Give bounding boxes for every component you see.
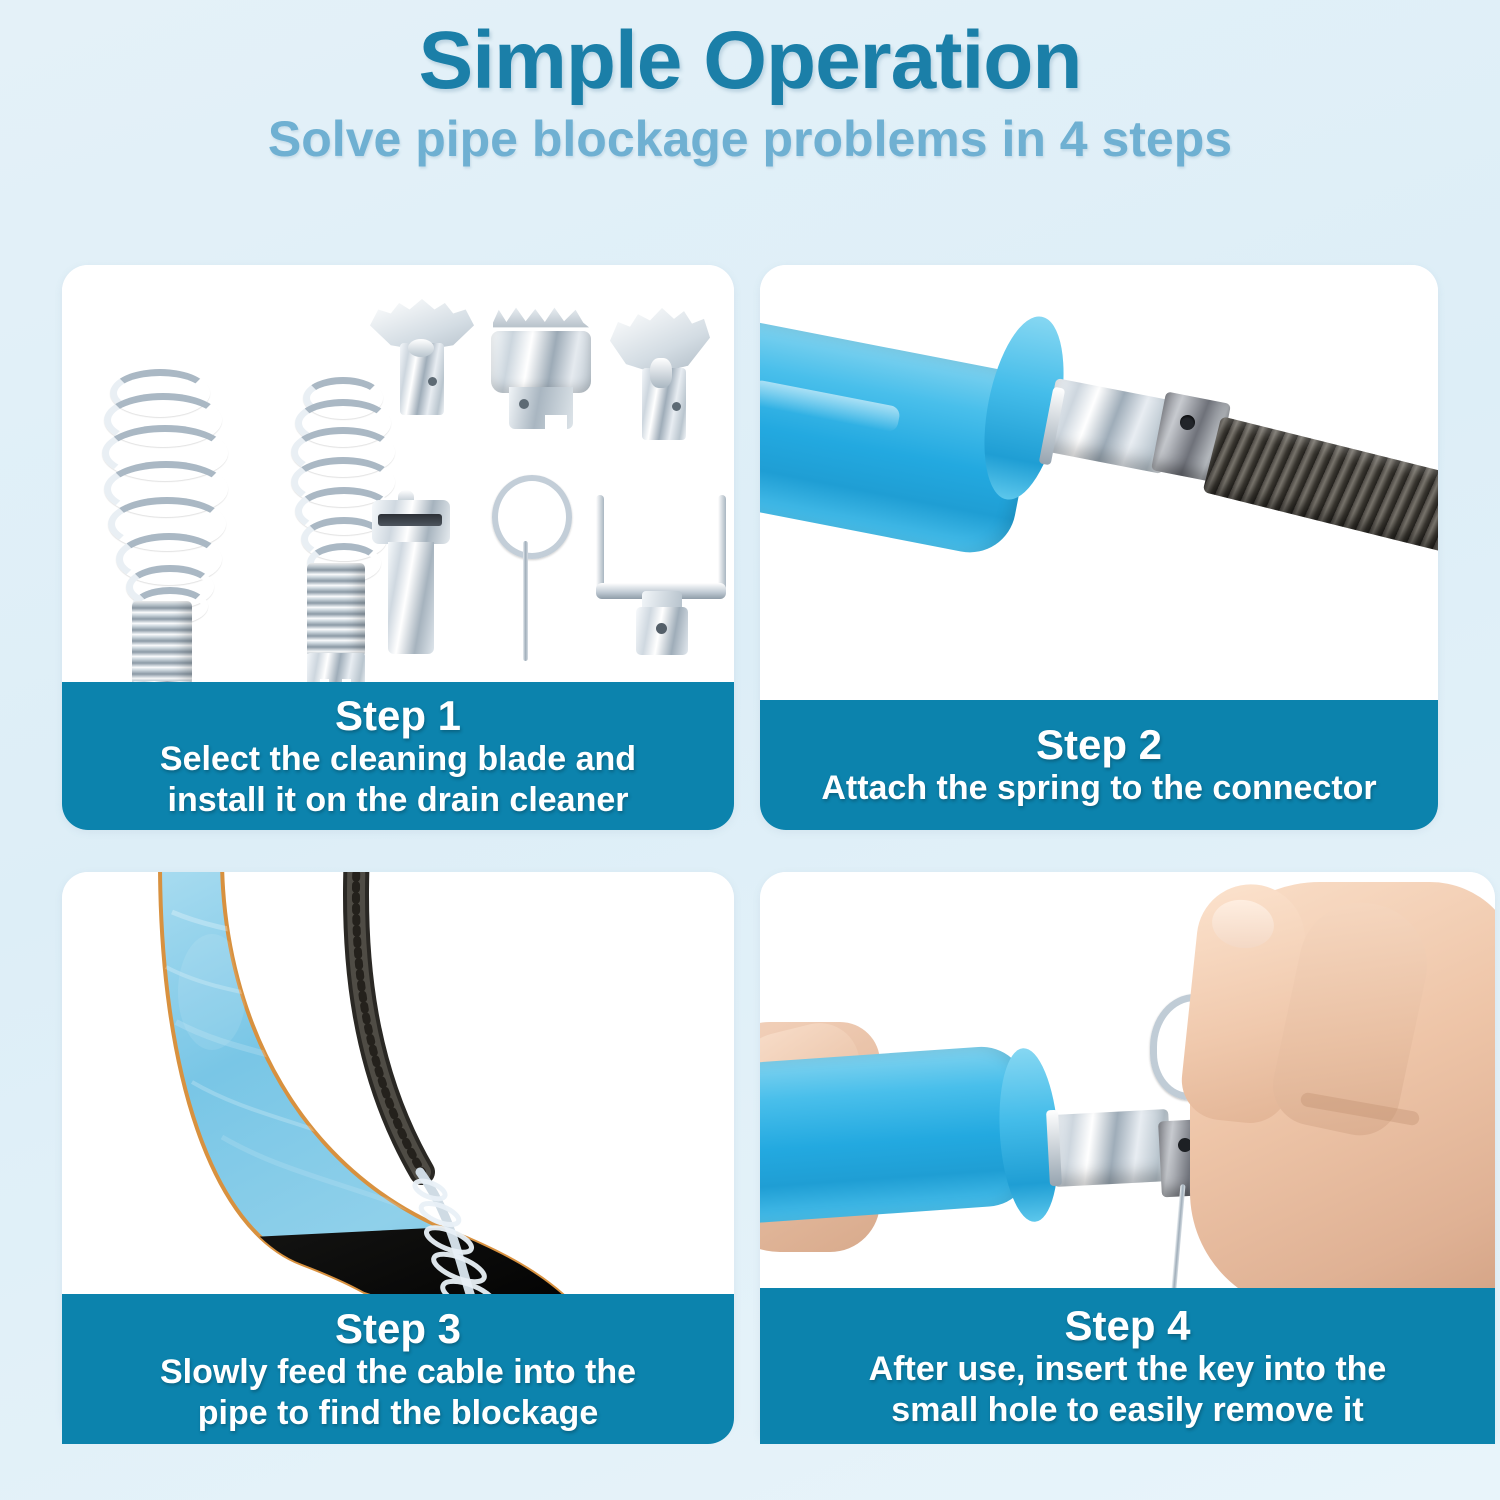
step-4-label: Step 4 [760,1302,1495,1349]
blue-handle-icon [760,1044,1035,1225]
step-1-description-line2: install it on the drain cleaner [62,780,734,821]
step-3-description-line1: Slowly feed the cable into the [62,1352,734,1393]
step-2-banner: Step 2 Attach the spring to the connecto… [760,700,1438,830]
spring-cable-icon [1203,416,1438,555]
slotted-cylinder-head-icon [372,490,450,660]
page-subtitle: Solve pipe blockage problems in 4 steps [0,110,1500,168]
step-4-description-line2: small hole to easily remove it [760,1390,1495,1431]
step-1-banner: Step 1 Select the cleaning blade and ins… [62,682,734,830]
step-3-description-line2: pipe to find the blockage [62,1393,734,1434]
crown-cutter-head-icon [487,307,595,437]
drain-cable-in-pipe [356,872,422,1172]
chrome-connector-sleeve-icon [1050,1109,1172,1187]
step-1-label: Step 1 [62,692,734,739]
step-4-banner: Step 4 After use, insert the key into th… [760,1288,1495,1444]
step-4-description-line1: After use, insert the key into the [760,1349,1495,1390]
step-2-description-line1: Attach the spring to the connector [760,768,1438,809]
spring-auger-large-icon [102,365,232,725]
step-3-banner: Step 3 Slowly feed the cable into the pi… [62,1294,734,1444]
step-2-label: Step 2 [760,721,1438,768]
ring-key-pin-icon [482,475,572,665]
angled-spade-blade-head-icon [602,300,722,460]
page-title: Simple Operation [0,18,1500,104]
page-header: Simple Operation Solve pipe blockage pro… [0,18,1500,168]
step-1-description-line1: Select the cleaning blade and [62,739,734,780]
spade-blade-head-icon [362,295,482,435]
step-3-label: Step 3 [62,1305,734,1352]
u-fork-retrieval-head-icon [592,495,732,665]
